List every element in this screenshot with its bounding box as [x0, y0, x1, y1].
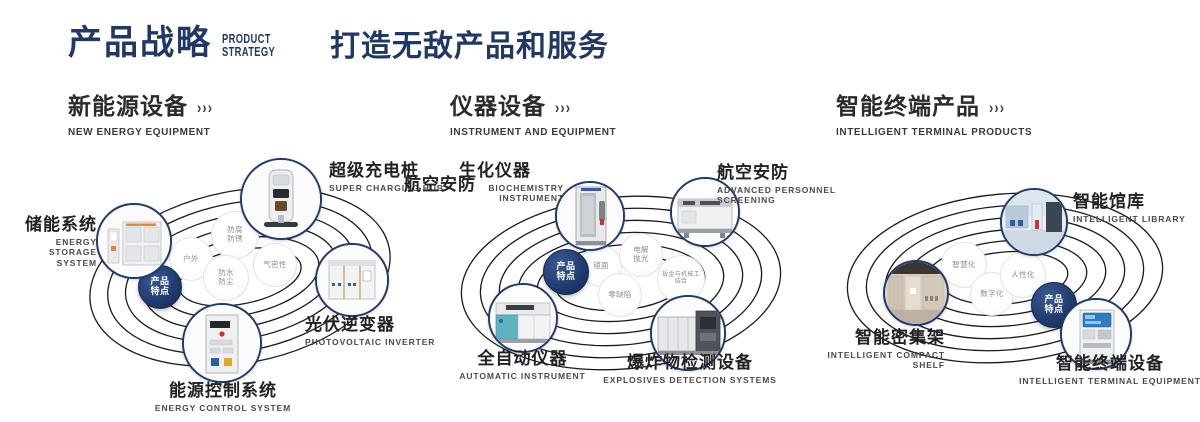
section-title-en: NEW ENERGY EQUIPMENT	[68, 127, 212, 138]
chevron-triple-icon: ›››	[989, 101, 1004, 114]
node-energy-control-system[interactable]	[182, 303, 262, 383]
node-intelligent-compact-shelf[interactable]	[883, 260, 949, 326]
label-aviation-security-extra: 航空安防	[404, 177, 476, 195]
cluster-instrument: 镜面 电解 抛光 零缺陷 钣金与机械工结合 产品 特点 生化仪器 BIOCHEM…	[425, 155, 815, 405]
label-intelligent-compact-shelf: 智能密集架 INTELLIGENT COMPACT SHELF	[805, 330, 945, 371]
feature-bubble: 电解 抛光	[619, 233, 663, 277]
section-heading-new-energy: 新能源设备 ››› NEW ENERGY EQUIPMENT	[68, 96, 212, 138]
node-intelligent-library[interactable]	[1000, 188, 1068, 256]
node-energy-storage-system[interactable]	[96, 203, 172, 279]
cluster-new-energy: 户外 防腐 防锈 防水 防尘 气密性 产品 特点 储能系统 ENERGY STO…	[55, 155, 425, 405]
cabinet-icon	[98, 205, 170, 277]
section-title-cn: 仪器设备	[450, 96, 546, 119]
section-heading-instrument: 仪器设备 ››› INSTRUMENT AND EQUIPMENT	[450, 96, 616, 138]
feature-bubble: 零缺陷	[598, 273, 642, 317]
page-title-en: PRODUCT STRATEGY	[222, 32, 275, 58]
section-title-cn: 智能终端产品	[836, 96, 980, 119]
node-photovoltaic-inverter[interactable]	[315, 243, 389, 317]
infographic-canvas: 产品战略 PRODUCT STRATEGY 打造无敌产品和服务 新能源设备 ››…	[0, 0, 1200, 422]
automatic-icon	[490, 285, 556, 351]
section-title-en: INTELLIGENT TERMINAL PRODUCTS	[836, 127, 1032, 138]
page-title-en-line2: STRATEGY	[222, 45, 275, 58]
label-intelligent-library: 智能馆库 INTELLIGENT LIBRARY	[1073, 194, 1200, 224]
cluster-intelligent: 智慧化 数字化 人性化 产品 特点 智能馆库 INTELLIGENT LIBRA…	[815, 160, 1200, 405]
section-title-cn: 新能源设备	[68, 96, 188, 119]
charger-icon	[242, 160, 320, 238]
label-photovoltaic-inverter: 光伏逆变器 PHOTOVOLTAIC INVERTER	[305, 317, 445, 347]
chevron-triple-icon: ›››	[555, 101, 570, 114]
feature-bubble: 防水 防尘	[203, 255, 249, 301]
label-explosives-detection-systems: 爆炸物检测设备 EXPLOSIVES DETECTION SYSTEMS	[600, 355, 780, 385]
label-energy-storage-system: 储能系统 ENERGY STORAGE SYSTEM	[7, 217, 97, 269]
page-header: 产品战略 PRODUCT STRATEGY	[68, 26, 296, 60]
feature-bubble: 气密性	[253, 243, 297, 287]
label-intelligent-terminal-equipment: 智能终端设备 INTELLIGENT TERMINAL EQUIPMENT	[1010, 356, 1200, 386]
node-automatic-instrument[interactable]	[488, 283, 558, 353]
chevron-triple-icon: ›››	[197, 101, 212, 114]
shelf-icon	[885, 262, 947, 324]
node-super-charging-hub[interactable]	[240, 158, 322, 240]
label-automatic-instrument: 全自动仪器 AUTOMATIC INSTRUMENT	[435, 351, 610, 381]
page-title: 产品战略	[68, 26, 212, 60]
label-energy-control-system: 能源控制系统 ENERGY CONTROL SYSTEM	[133, 383, 313, 413]
library-icon	[1002, 190, 1066, 254]
label-biochemistry-instrument: 生化仪器 BIOCHEMISTRY INSTRUMENT	[459, 163, 579, 204]
section-title-en: INSTRUMENT AND EQUIPMENT	[450, 127, 616, 138]
page-subtitle: 打造无敌产品和服务	[330, 32, 609, 62]
controller-icon	[184, 305, 260, 381]
section-heading-intelligent: 智能终端产品 ››› INTELLIGENT TERMINAL PRODUCTS	[836, 96, 1032, 138]
inverter-icon	[317, 245, 387, 315]
